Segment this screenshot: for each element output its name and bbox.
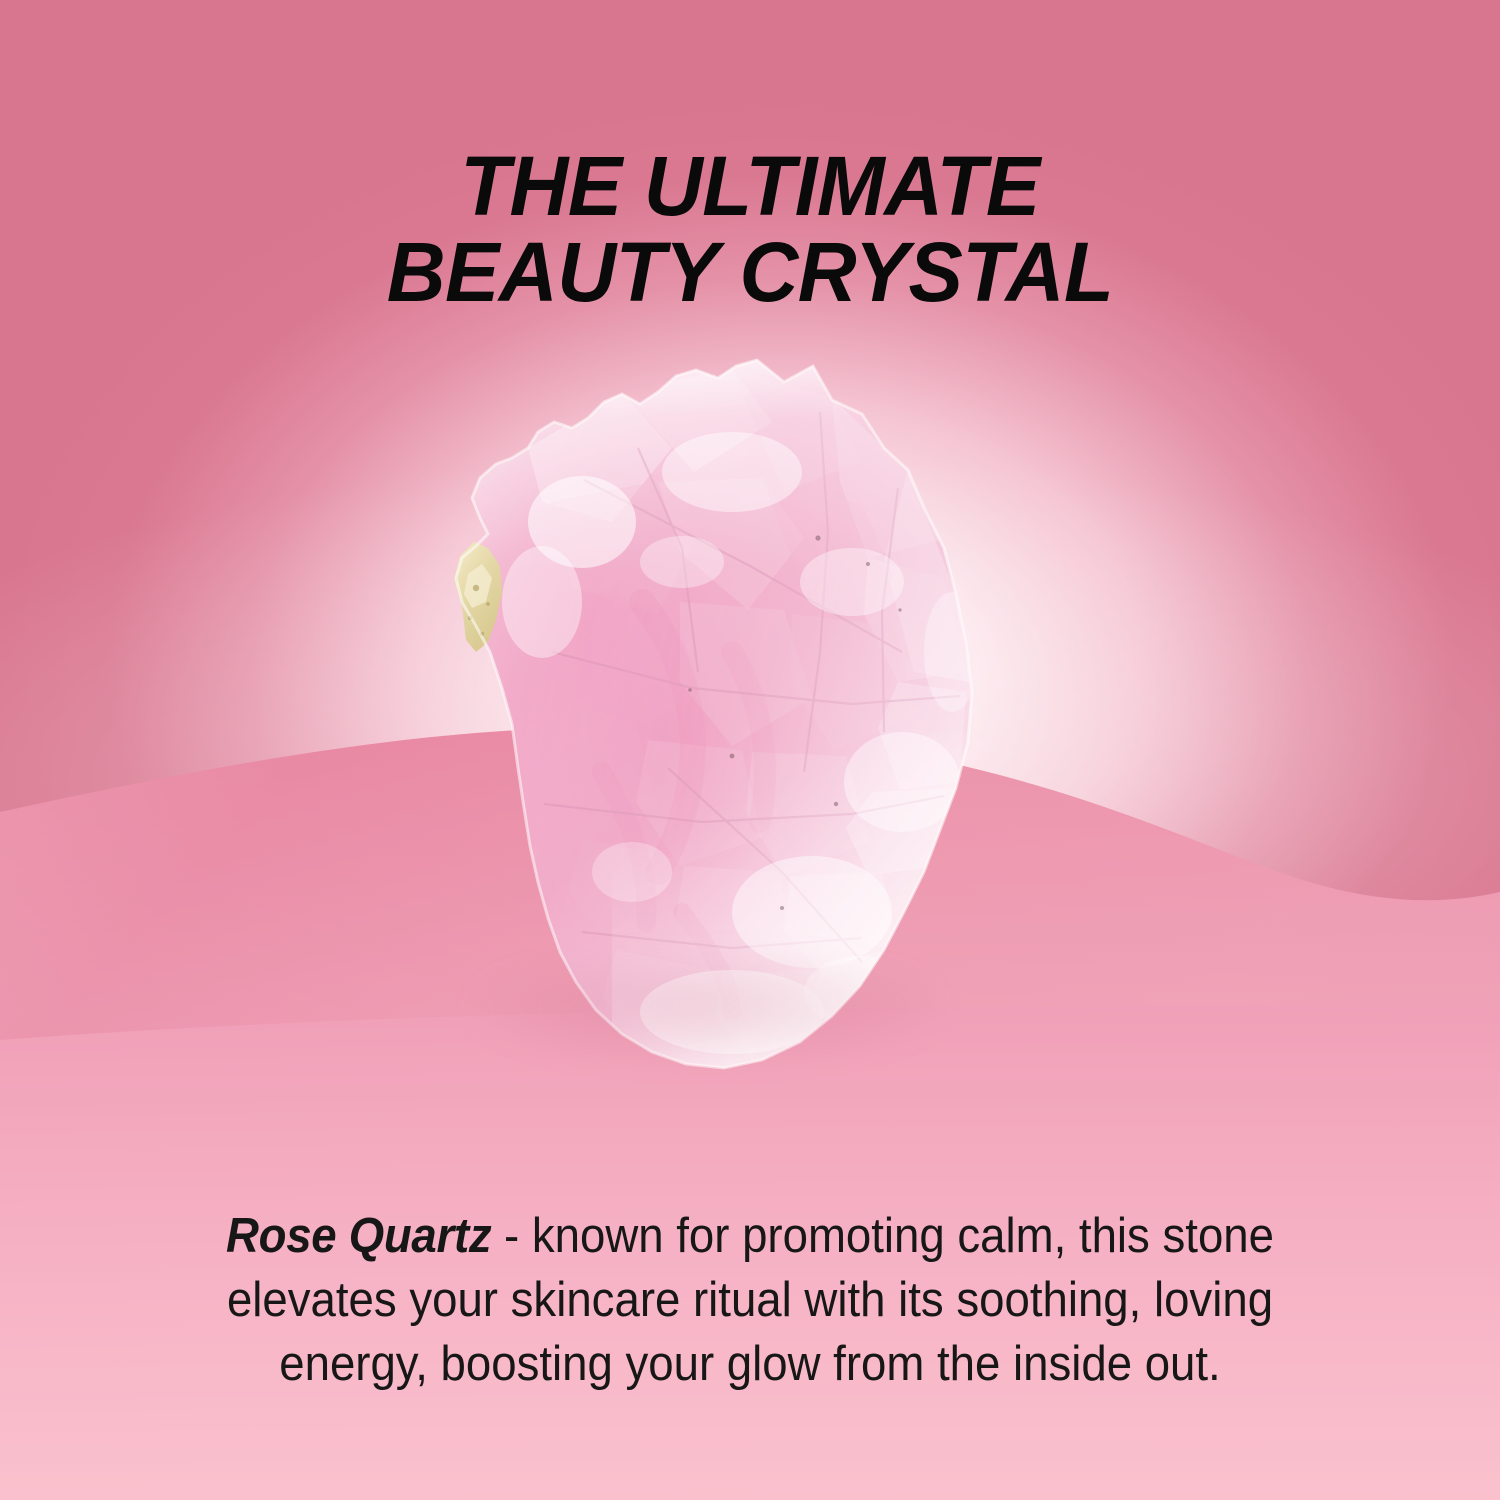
product-name-emphasis: Rose Quartz xyxy=(226,1209,491,1263)
headline-line-1: THE ULTIMATE xyxy=(23,144,1478,230)
description-text: Rose Quartz - known for promoting calm, … xyxy=(201,1204,1298,1396)
rose-quartz-crystal-image xyxy=(432,352,992,1092)
crystal-drop-shadow xyxy=(472,952,942,1062)
page-title: THE ULTIMATE BEAUTY CRYSTAL xyxy=(23,144,1478,315)
poster-canvas: THE ULTIMATE BEAUTY CRYSTAL Rose Quartz … xyxy=(0,0,1500,1500)
headline-line-2: BEAUTY CRYSTAL xyxy=(23,230,1478,316)
